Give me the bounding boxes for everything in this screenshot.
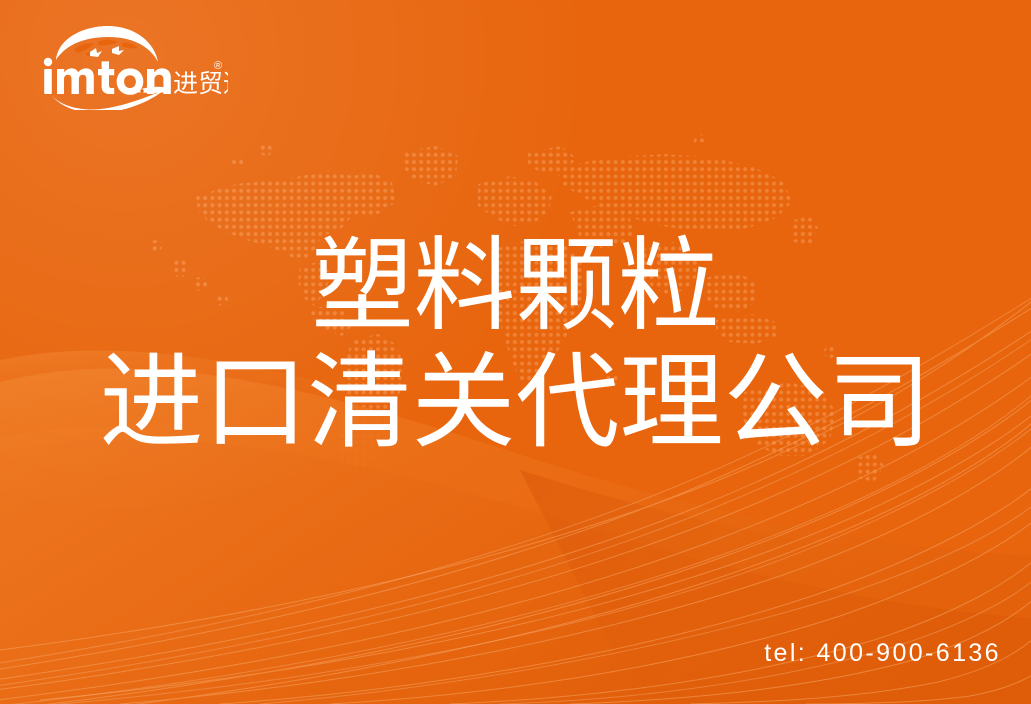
logo-chinese-name: 进贸通 <box>173 70 228 98</box>
trademark-symbol: ® <box>214 60 222 72</box>
company-logo[interactable]: 进贸通 ® <box>38 22 228 110</box>
telephone-text: tel: 400-900-6136 <box>764 639 1001 668</box>
headline-block: 塑料颗粒 进口清关代理公司 <box>0 228 1031 462</box>
headline-line-1: 塑料颗粒 <box>0 228 1031 344</box>
promo-banner: 进贸通 ® 塑料颗粒 进口清关代理公司 tel: 400-900-6136 <box>0 0 1031 704</box>
globe-arc-icon <box>56 26 158 62</box>
headline-line-2: 进口清关代理公司 <box>0 344 1031 462</box>
